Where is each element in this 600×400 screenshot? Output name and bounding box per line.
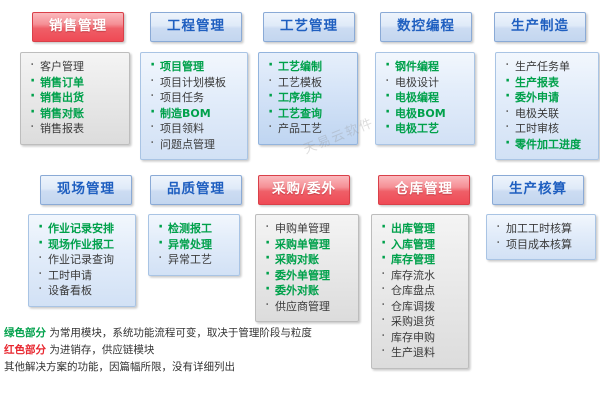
- list-item[interactable]: 电极设计: [382, 75, 468, 91]
- module-header-costing[interactable]: 生产核算: [492, 175, 584, 205]
- list-item[interactable]: 客户管理: [27, 59, 123, 75]
- list-item[interactable]: 问题点管理: [147, 137, 241, 153]
- list-item[interactable]: 产品工艺: [265, 121, 351, 137]
- list-item[interactable]: 项目计划模板: [147, 75, 241, 91]
- legend-row-red: 红色部分 为进销存，供应链模块: [4, 342, 364, 359]
- module-list-warehouse: 出库管理入库管理库存管理库存流水仓库盘点仓库调拨采购退货库存申购生产退料: [378, 221, 462, 361]
- list-item[interactable]: 异常工艺: [155, 252, 233, 268]
- list-item[interactable]: 电极工艺: [382, 121, 468, 137]
- module-list-process: 工艺编制工艺模板工序维护工艺查询产品工艺: [265, 59, 351, 137]
- list-item[interactable]: 销售出货: [27, 90, 123, 106]
- module-panel-purchase: 申购单管理采购单管理采购对账委外单管理委外对账供应商管理: [255, 214, 359, 322]
- list-item[interactable]: 生产报表: [502, 75, 592, 91]
- list-item[interactable]: 采购退货: [378, 314, 462, 330]
- module-panel-manufacturing: 生产任务单生产报表委外申请电极关联工时审核零件加工进度: [495, 52, 599, 160]
- list-item[interactable]: 工艺模板: [265, 75, 351, 91]
- module-header-quality[interactable]: 品质管理: [150, 175, 242, 205]
- module-header-engineering[interactable]: 工程管理: [150, 12, 242, 42]
- list-item[interactable]: 异常处理: [155, 237, 233, 253]
- module-list-manufacturing: 生产任务单生产报表委外申请电极关联工时审核零件加工进度: [502, 59, 592, 152]
- list-item[interactable]: 委外单管理: [262, 268, 352, 284]
- list-item[interactable]: 工时审核: [502, 121, 592, 137]
- list-item[interactable]: 销售报表: [27, 121, 123, 137]
- list-item[interactable]: 作业记录安排: [35, 221, 129, 237]
- module-list-engineering: 项目管理项目计划模板项目任务制造BOM项目领料问题点管理: [147, 59, 241, 152]
- list-item[interactable]: 加工工时核算: [493, 221, 589, 237]
- list-item[interactable]: 设备看板: [35, 283, 129, 299]
- module-panel-costing: 加工工时核算项目成本核算: [486, 214, 596, 260]
- module-header-manufacturing[interactable]: 生产制造: [494, 12, 586, 42]
- list-item[interactable]: 检测报工: [155, 221, 233, 237]
- list-item[interactable]: 销售订单: [27, 75, 123, 91]
- module-list-purchase: 申购单管理采购单管理采购对账委外单管理委外对账供应商管理: [262, 221, 352, 314]
- list-item[interactable]: 制造BOM: [147, 106, 241, 122]
- list-item[interactable]: 工艺查询: [265, 106, 351, 122]
- module-list-quality: 检测报工异常处理异常工艺: [155, 221, 233, 268]
- list-item[interactable]: 采购单管理: [262, 237, 352, 253]
- list-item[interactable]: 电极BOM: [382, 106, 468, 122]
- list-item[interactable]: 项目领料: [147, 121, 241, 137]
- list-item[interactable]: 电极关联: [502, 106, 592, 122]
- diagram-canvas: 天易云软件 绿色部分 为常用模块，系统功能流程可变，取决于管理阶段与粒度 红色部…: [0, 0, 600, 400]
- list-item[interactable]: 项目任务: [147, 90, 241, 106]
- list-item[interactable]: 库存流水: [378, 268, 462, 284]
- module-header-process[interactable]: 工艺管理: [263, 12, 355, 42]
- list-item[interactable]: 工序维护: [265, 90, 351, 106]
- list-item[interactable]: 委外申请: [502, 90, 592, 106]
- list-item[interactable]: 电极编程: [382, 90, 468, 106]
- module-header-cnc[interactable]: 数控编程: [380, 12, 472, 42]
- module-panel-sales: 客户管理销售订单销售出货销售对账销售报表: [20, 52, 130, 145]
- legend-green-key: 绿色部分: [4, 327, 46, 339]
- list-item[interactable]: 仓库盘点: [378, 283, 462, 299]
- legend-row-note: 其他解决方案的功能，因篇幅所限，没有详细列出: [4, 359, 364, 376]
- module-header-purchase[interactable]: 采购/委外: [258, 175, 350, 205]
- module-list-shopfloor: 作业记录安排现场作业报工作业记录查询工时申请设备看板: [35, 221, 129, 299]
- list-item[interactable]: 库存申购: [378, 330, 462, 346]
- module-list-costing: 加工工时核算项目成本核算: [493, 221, 589, 252]
- legend-row-green: 绿色部分 为常用模块，系统功能流程可变，取决于管理阶段与粒度: [4, 325, 364, 342]
- module-panel-shopfloor: 作业记录安排现场作业报工作业记录查询工时申请设备看板: [28, 214, 136, 307]
- module-header-warehouse[interactable]: 仓库管理: [378, 175, 470, 205]
- list-item[interactable]: 库存管理: [378, 252, 462, 268]
- list-item[interactable]: 采购对账: [262, 252, 352, 268]
- list-item[interactable]: 申购单管理: [262, 221, 352, 237]
- list-item[interactable]: 委外对账: [262, 283, 352, 299]
- legend-red-text: 为进销存，供应链模块: [46, 344, 154, 356]
- module-panel-cnc: 钢件编程电极设计电极编程电极BOM电极工艺: [375, 52, 475, 145]
- list-item[interactable]: 钢件编程: [382, 59, 468, 75]
- list-item[interactable]: 零件加工进度: [502, 137, 592, 153]
- list-item[interactable]: 供应商管理: [262, 299, 352, 315]
- list-item[interactable]: 作业记录查询: [35, 252, 129, 268]
- list-item[interactable]: 仓库调拨: [378, 299, 462, 315]
- list-item[interactable]: 项目成本核算: [493, 237, 589, 253]
- list-item[interactable]: 项目管理: [147, 59, 241, 75]
- module-header-shopfloor[interactable]: 现场管理: [40, 175, 132, 205]
- list-item[interactable]: 工时申请: [35, 268, 129, 284]
- legend-green-text: 为常用模块，系统功能流程可变，取决于管理阶段与粒度: [46, 327, 312, 339]
- legend-red-key: 红色部分: [4, 344, 46, 356]
- module-panel-quality: 检测报工异常处理异常工艺: [148, 214, 240, 276]
- legend: 绿色部分 为常用模块，系统功能流程可变，取决于管理阶段与粒度 红色部分 为进销存…: [4, 325, 364, 376]
- list-item[interactable]: 销售对账: [27, 106, 123, 122]
- module-panel-warehouse: 出库管理入库管理库存管理库存流水仓库盘点仓库调拨采购退货库存申购生产退料: [371, 214, 469, 369]
- module-panel-process: 工艺编制工艺模板工序维护工艺查询产品工艺: [258, 52, 358, 145]
- list-item[interactable]: 工艺编制: [265, 59, 351, 75]
- module-list-cnc: 钢件编程电极设计电极编程电极BOM电极工艺: [382, 59, 468, 137]
- list-item[interactable]: 入库管理: [378, 237, 462, 253]
- list-item[interactable]: 现场作业报工: [35, 237, 129, 253]
- module-list-sales: 客户管理销售订单销售出货销售对账销售报表: [27, 59, 123, 137]
- module-panel-engineering: 项目管理项目计划模板项目任务制造BOM项目领料问题点管理: [140, 52, 248, 160]
- list-item[interactable]: 生产退料: [378, 345, 462, 361]
- list-item[interactable]: 生产任务单: [502, 59, 592, 75]
- list-item[interactable]: 出库管理: [378, 221, 462, 237]
- module-header-sales[interactable]: 销售管理: [32, 12, 124, 42]
